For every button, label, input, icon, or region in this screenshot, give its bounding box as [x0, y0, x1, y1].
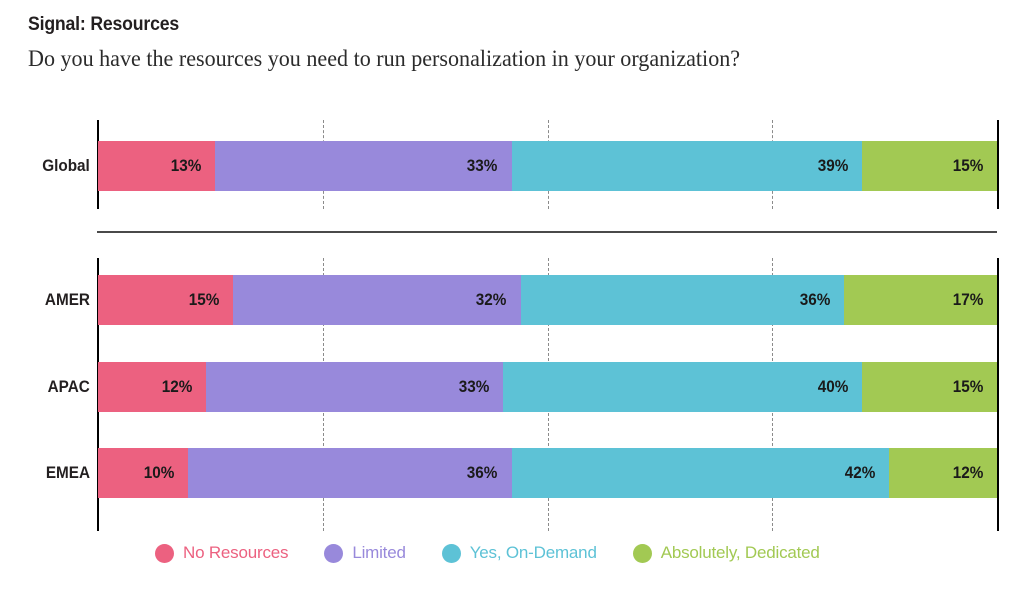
- legend-swatch-icon: [442, 544, 461, 563]
- category-label-amer: AMER: [45, 275, 98, 325]
- bar-value-label: 10%: [144, 463, 175, 483]
- bar-segment-apac-limited[interactable]: 33%: [206, 362, 503, 412]
- axis-line-right-1: [997, 258, 999, 531]
- bar-value-label: 39%: [818, 156, 849, 176]
- bar-value-label: 15%: [953, 156, 984, 176]
- bar-segment-global-absolutely-dedicated[interactable]: 15%: [862, 141, 997, 191]
- legend-item-yes-on-demand[interactable]: Yes, On-Demand: [442, 543, 597, 563]
- legend-label: Absolutely, Dedicated: [661, 543, 820, 563]
- legend-label: Limited: [352, 543, 405, 563]
- bar-segment-amer-limited[interactable]: 32%: [233, 275, 521, 325]
- bar-segment-apac-yes-on-demand[interactable]: 40%: [503, 362, 863, 412]
- category-label-global: Global: [42, 141, 98, 191]
- bar-segment-emea-yes-on-demand[interactable]: 42%: [512, 448, 890, 498]
- chart-legend: No ResourcesLimitedYes, On-DemandAbsolut…: [155, 543, 820, 563]
- legend-swatch-icon: [633, 544, 652, 563]
- legend-label: Yes, On-Demand: [470, 543, 597, 563]
- legend-label: No Resources: [183, 543, 288, 563]
- bar-value-label: 12%: [162, 377, 193, 397]
- category-label-emea: EMEA: [46, 448, 98, 498]
- bar-value-label: 40%: [818, 377, 849, 397]
- group-separator: [97, 231, 997, 233]
- bar-value-label: 36%: [800, 290, 831, 310]
- category-label-apac: APAC: [48, 362, 98, 412]
- bar-segment-global-yes-on-demand[interactable]: 39%: [512, 141, 863, 191]
- bar-segment-amer-absolutely-dedicated[interactable]: 17%: [844, 275, 997, 325]
- bar-value-label: 33%: [458, 377, 489, 397]
- legend-swatch-icon: [324, 544, 343, 563]
- bar-segment-amer-no-resources[interactable]: 15%: [98, 275, 233, 325]
- bar-row-global: Global13%33%39%15%: [98, 141, 997, 191]
- legend-item-absolutely-dedicated[interactable]: Absolutely, Dedicated: [633, 543, 820, 563]
- bar-value-label: 15%: [189, 290, 220, 310]
- bar-value-label: 17%: [953, 290, 984, 310]
- bar-value-label: 32%: [476, 290, 507, 310]
- bar-segment-emea-absolutely-dedicated[interactable]: 12%: [889, 448, 997, 498]
- bar-value-label: 15%: [953, 377, 984, 397]
- bar-value-label: 13%: [171, 156, 202, 176]
- bar-segment-emea-no-resources[interactable]: 10%: [98, 448, 188, 498]
- bar-value-label: 42%: [845, 463, 876, 483]
- bar-value-label: 12%: [953, 463, 984, 483]
- bar-segment-global-no-resources[interactable]: 13%: [98, 141, 215, 191]
- legend-item-limited[interactable]: Limited: [324, 543, 405, 563]
- bar-segment-emea-limited[interactable]: 36%: [188, 448, 512, 498]
- bar-segment-amer-yes-on-demand[interactable]: 36%: [521, 275, 845, 325]
- legend-swatch-icon: [155, 544, 174, 563]
- stacked-bar-chart: Global13%33%39%15%AMER15%32%36%17%APAC12…: [0, 0, 1024, 595]
- bar-row-amer: AMER15%32%36%17%: [98, 275, 997, 325]
- bar-value-label: 33%: [467, 156, 498, 176]
- bar-value-label: 36%: [467, 463, 498, 483]
- bar-row-apac: APAC12%33%40%15%: [98, 362, 997, 412]
- legend-item-no-resources[interactable]: No Resources: [155, 543, 288, 563]
- bar-row-emea: EMEA10%36%42%12%: [98, 448, 997, 498]
- bar-segment-apac-absolutely-dedicated[interactable]: 15%: [862, 362, 997, 412]
- axis-line-right-0: [997, 120, 999, 209]
- bar-segment-apac-no-resources[interactable]: 12%: [98, 362, 206, 412]
- bar-segment-global-limited[interactable]: 33%: [215, 141, 512, 191]
